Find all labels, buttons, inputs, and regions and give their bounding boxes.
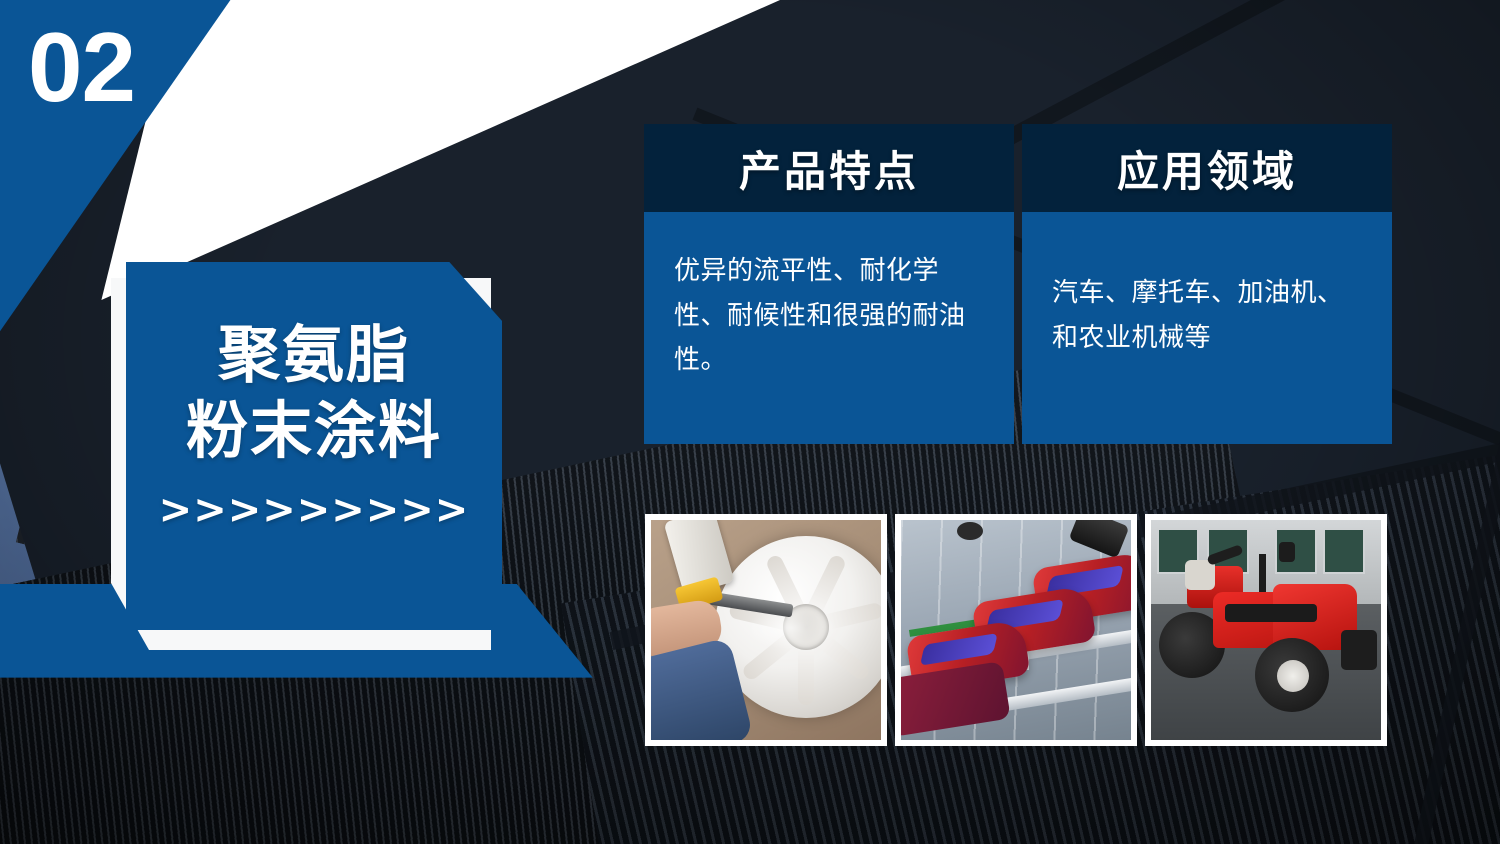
photo-content bbox=[1151, 520, 1381, 740]
panel-application-fields: 应用领域 汽车、摩托车、加油机、和农业机械等 bbox=[1022, 124, 1392, 444]
photo-strip bbox=[645, 514, 1387, 746]
booth-lamp bbox=[957, 522, 983, 540]
rear-hitch bbox=[1341, 630, 1377, 670]
chevron-arrows-icon: >>>>>>>>> bbox=[126, 487, 502, 533]
title-line-2: 粉末涂料 bbox=[126, 394, 502, 470]
info-panels: 产品特点 优异的流平性、耐化学性、耐候性和很强的耐油性。 应用领域 汽车、摩托车… bbox=[644, 124, 1392, 444]
hood-decal-stripe bbox=[1225, 604, 1317, 622]
panel-header-application-fields: 应用领域 bbox=[1022, 124, 1392, 212]
panel-body-product-features: 优异的流平性、耐化学性、耐候性和很强的耐油性。 bbox=[644, 212, 1014, 444]
photo-content bbox=[651, 520, 881, 740]
side-mirror bbox=[1279, 542, 1295, 562]
panel-body-text: 优异的流平性、耐化学性、耐候性和很强的耐油性。 bbox=[674, 248, 984, 382]
window bbox=[1323, 528, 1365, 574]
photo-red-tractor bbox=[1145, 514, 1387, 746]
panel-body-application-fields: 汽车、摩托车、加油机、和农业机械等 bbox=[1022, 212, 1392, 444]
title-line-1: 聚氨脂 bbox=[126, 318, 502, 394]
panel-header-product-features: 产品特点 bbox=[644, 124, 1014, 212]
panel-heading-text: 应用领域 bbox=[1117, 138, 1297, 199]
section-number: 02 bbox=[28, 18, 135, 116]
presentation-slide: 02 聚氨脂 粉末涂料 >>>>>>>>> 产品特点 优异的流平性、耐化学性、耐… bbox=[0, 0, 1500, 844]
photo-powder-coating-alloy-wheel bbox=[645, 514, 887, 746]
panel-body-text: 汽车、摩托车、加油机、和农业机械等 bbox=[1052, 270, 1362, 359]
photo-content bbox=[901, 520, 1131, 740]
panel-heading-text: 产品特点 bbox=[739, 138, 919, 199]
photo-motorcycle-tanks-coating-line bbox=[895, 514, 1137, 746]
panel-product-features: 产品特点 优异的流平性、耐化学性、耐候性和很强的耐油性。 bbox=[644, 124, 1014, 444]
tractor-wheel-rim bbox=[1277, 660, 1309, 692]
title-card: 聚氨脂 粉末涂料 >>>>>>>>> bbox=[126, 262, 502, 630]
